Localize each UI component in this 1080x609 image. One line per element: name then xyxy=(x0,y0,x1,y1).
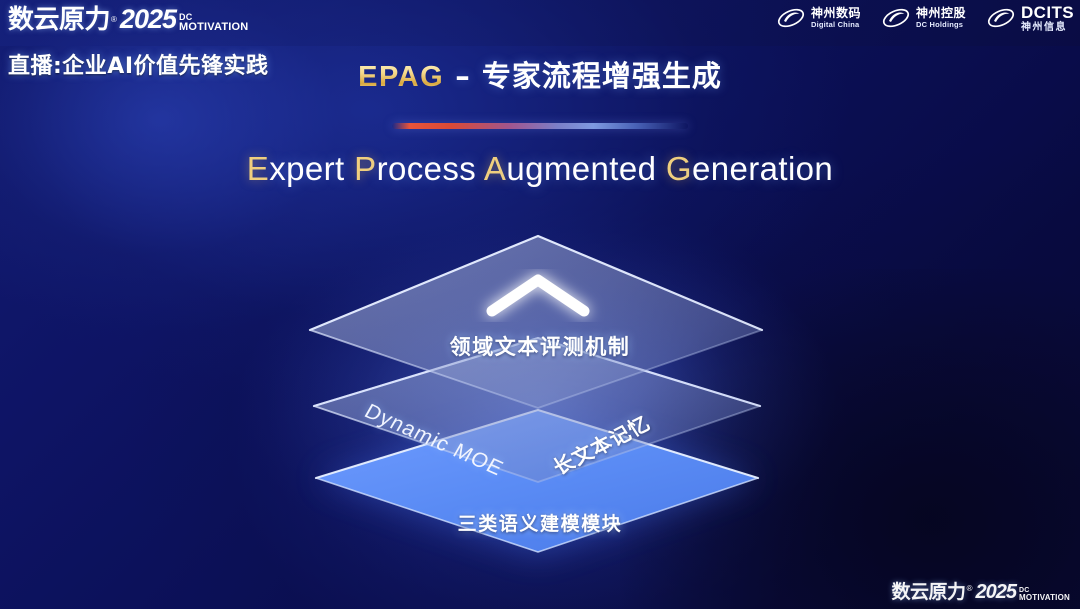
registered-mark-icon: ® xyxy=(967,585,973,593)
page-subtitle: Expert Process Augmented Generation xyxy=(0,150,1080,188)
event-logo-cn: 数云原力 xyxy=(892,583,966,602)
event-logo: 数云原力 ® 2025 DC MOTIVATION xyxy=(8,6,248,33)
subtitle-rest-generation: eneration xyxy=(692,150,833,187)
partner-label: 神州控股 DC Holdings xyxy=(916,7,966,29)
swirl-logo-icon xyxy=(881,4,911,32)
diagram-label-middle-right: 长文本记忆 xyxy=(546,408,655,480)
subtitle-rest-expert: xpert xyxy=(269,150,354,187)
partner-logo-digital-china: 神州数码 Digital China xyxy=(776,4,861,32)
event-logo-year: 2025 xyxy=(120,6,176,33)
diagram-label-top: 领域文本评测机制 xyxy=(0,331,1080,361)
subtitle-rest-process: rocess xyxy=(377,150,484,187)
partner-logo-dcits: DCITS 神州信息 xyxy=(986,3,1074,33)
partner-name-cn: 神州信息 xyxy=(1021,22,1074,33)
chevron-up-icon xyxy=(492,280,584,311)
swirl-logo-icon xyxy=(776,4,806,32)
event-logo-cn: 数云原力 xyxy=(8,7,110,33)
subtitle-cap-p: P xyxy=(354,150,376,187)
partner-label: DCITS 神州信息 xyxy=(1021,3,1074,33)
swirl-logo-icon xyxy=(986,4,1016,32)
registered-mark-icon: ® xyxy=(111,16,117,24)
page-title-dash: – xyxy=(444,59,482,93)
partner-logo-group: 神州数码 Digital China 神州控股 DC Holdings xyxy=(776,3,1074,33)
page-title-acronym: EPAG xyxy=(358,61,444,93)
partner-name-cn: 神州控股 xyxy=(916,7,966,20)
subtitle-rest-augmented: ugmented xyxy=(506,150,666,187)
partner-name-en: DCITS xyxy=(1021,3,1074,22)
partner-name-cn: 神州数码 xyxy=(811,7,861,20)
title-divider xyxy=(392,123,688,129)
page-title: EPAG – 专家流程增强生成 xyxy=(0,53,1080,95)
event-logo-motivation: MOTIVATION xyxy=(1019,594,1070,602)
diagram-layer-top[interactable] xyxy=(310,236,762,408)
subtitle-cap-e: E xyxy=(247,150,269,187)
partner-logo-dc-holdings: 神州控股 DC Holdings xyxy=(881,4,966,32)
slide-canvas: 数云原力 ® 2025 DC MOTIVATION 直播:企业AI价值先锋实践 … xyxy=(0,0,1080,609)
diagram-label-bottom: 三类语义建模模块 xyxy=(0,509,1080,536)
event-logo-dc-motivation: DC MOTIVATION xyxy=(1019,587,1070,602)
event-logo-watermark: 数云原力 ® 2025 DC MOTIVATION xyxy=(892,582,1070,602)
partner-label: 神州数码 Digital China xyxy=(811,7,861,29)
top-layer-plate xyxy=(310,236,762,408)
background-glow-center xyxy=(270,210,830,609)
top-layer-top-edge xyxy=(310,236,762,330)
subtitle-cap-a: A xyxy=(484,150,506,187)
event-logo-dc-motivation: DC MOTIVATION xyxy=(179,13,248,33)
event-logo-year: 2025 xyxy=(975,582,1016,602)
partner-name-en: Digital China xyxy=(811,21,861,29)
partner-name-en: DC Holdings xyxy=(916,21,966,29)
subtitle-cap-g: G xyxy=(666,150,692,187)
event-logo-motivation: MOTIVATION xyxy=(179,22,248,33)
background-glow-bottom-right xyxy=(620,269,1080,609)
page-title-cn: 专家流程增强生成 xyxy=(482,59,722,93)
diagram-label-middle-left: Dynamic MOE xyxy=(360,400,508,481)
